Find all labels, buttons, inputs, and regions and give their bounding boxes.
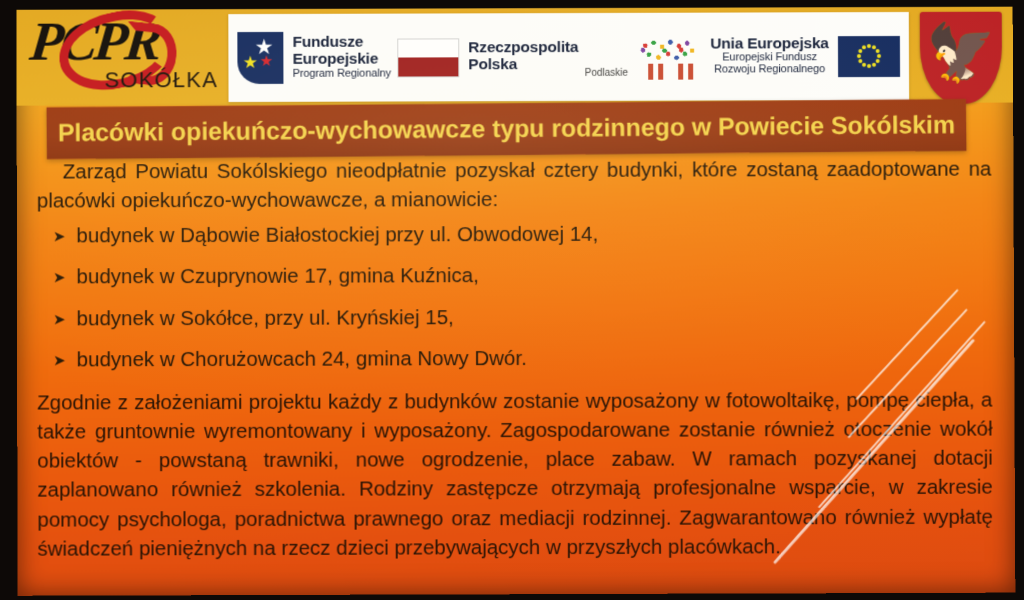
logo-fe-line2: Europejskie: [293, 52, 391, 69]
funding-logo-strip: ★ ★ ★ Fundusze Europejskie Program Regio…: [228, 12, 909, 102]
eu-funds-stars-icon: ★ ★ ★: [238, 32, 284, 84]
eu-flag-icon: [838, 35, 900, 76]
logo-pl-line1: Rzeczpospolita: [468, 40, 578, 57]
bullet-arrow-icon: ➤: [53, 312, 66, 327]
pcpr-subtitle: SOKÓŁKA: [105, 67, 219, 93]
logo-fundusze-text: Fundusze Europejskie Program Regionalny: [293, 35, 392, 81]
logo-fe-line3: Program Regionalny: [293, 68, 391, 80]
eu-star-icon: [872, 63, 876, 67]
bullet-arrow-icon: ➤: [53, 271, 66, 286]
list-item-label: budynek w Chorużowcach 24, gmina Nowy Dw…: [77, 346, 527, 374]
eu-star-icon: [858, 49, 862, 53]
list-item: ➤budynek w Dąbowie Białostockiej przy ul…: [53, 221, 992, 250]
sokolka-county-coat-of-arms: 🦅: [909, 9, 1013, 105]
eu-star-icon: [867, 44, 871, 48]
eu-star-icon: [867, 64, 871, 68]
logo-pl-line2: Polska: [468, 57, 578, 74]
pcpr-logo: PCPR SOKÓŁKA: [16, 11, 228, 108]
slide-title-banner: Placówki opiekuńczo-wychowawcze typu rod…: [46, 99, 966, 159]
eu-star-icon: [857, 54, 861, 58]
logo-rzeczpospolita-polska: Rzeczpospolita Polska: [397, 37, 578, 77]
building-list: ➤budynek w Dąbowie Białostockiej przy ul…: [37, 221, 992, 374]
eu-star-icon: [877, 54, 881, 58]
logo-podlaskie: Podlaskie: [585, 32, 704, 82]
logo-polska-text: Rzeczpospolita Polska: [468, 40, 578, 74]
coat-of-arms-shield: 🦅: [920, 12, 1002, 104]
intro-paragraph: Zarząd Powiatu Sokólskiego nieodpłatnie …: [37, 155, 992, 216]
slide-header: PCPR SOKÓŁKA ★ ★ ★ Fundusze Europejskie: [16, 9, 1013, 108]
slide-body: Zarząd Powiatu Sokólskiego nieodpłatnie …: [17, 154, 1015, 563]
eu-star-icon: [875, 59, 879, 63]
eu-star-icon: [862, 45, 866, 49]
eu-star-icon: [875, 49, 879, 53]
list-item-label: budynek w Czuprynowie 17, gmina Kuźnica,: [77, 264, 479, 291]
podlaskie-label: Podlaskie: [585, 68, 628, 82]
logo-ue-line3: Rozwoju Regionalnego: [710, 65, 828, 77]
logo-unia-europejska: Unia Europejska Europejski Fundusz Rozwo…: [710, 35, 900, 77]
list-item: ➤budynek w Chorużowcach 24, gmina Nowy D…: [53, 344, 992, 373]
list-item-label: budynek w Sokółce, przy ul. Kryńskiej 15…: [77, 305, 454, 332]
eu-star-icon: [858, 59, 862, 63]
closing-paragraph: Zgodnie z założeniami projektu każdy z b…: [37, 386, 993, 564]
projector-photo-frame: PCPR SOKÓŁKA ★ ★ ★ Fundusze Europejskie: [0, 0, 1024, 600]
logo-fundusze-europejskie: ★ ★ ★ Fundusze Europejskie Program Regio…: [238, 32, 392, 84]
bullet-arrow-icon: ➤: [53, 353, 66, 368]
logo-ue-line1: Unia Europejska: [710, 36, 828, 53]
presentation-slide: PCPR SOKÓŁKA ★ ★ ★ Fundusze Europejskie: [16, 7, 1015, 596]
podlaskie-bison-icon: [632, 32, 704, 82]
list-item: ➤budynek w Sokółce, przy ul. Kryńskiej 1…: [53, 303, 992, 332]
polish-flag-icon: [397, 38, 459, 77]
logo-ue-text: Unia Europejska Europejski Fundusz Rozwo…: [710, 36, 829, 77]
logo-fe-line1: Fundusze: [293, 35, 391, 52]
bullet-arrow-icon: ➤: [53, 230, 66, 245]
eu-star-icon: [862, 63, 866, 67]
page-title: Placówki opiekuńczo-wychowawcze typu rod…: [58, 110, 955, 147]
list-item: ➤budynek w Czuprynowie 17, gmina Kuźnica…: [53, 262, 992, 291]
list-item-label: budynek w Dąbowie Białostockiej przy ul.…: [76, 222, 598, 250]
sokolka-county-eagle-coat-of-arms-icon: 🦅: [926, 25, 996, 81]
